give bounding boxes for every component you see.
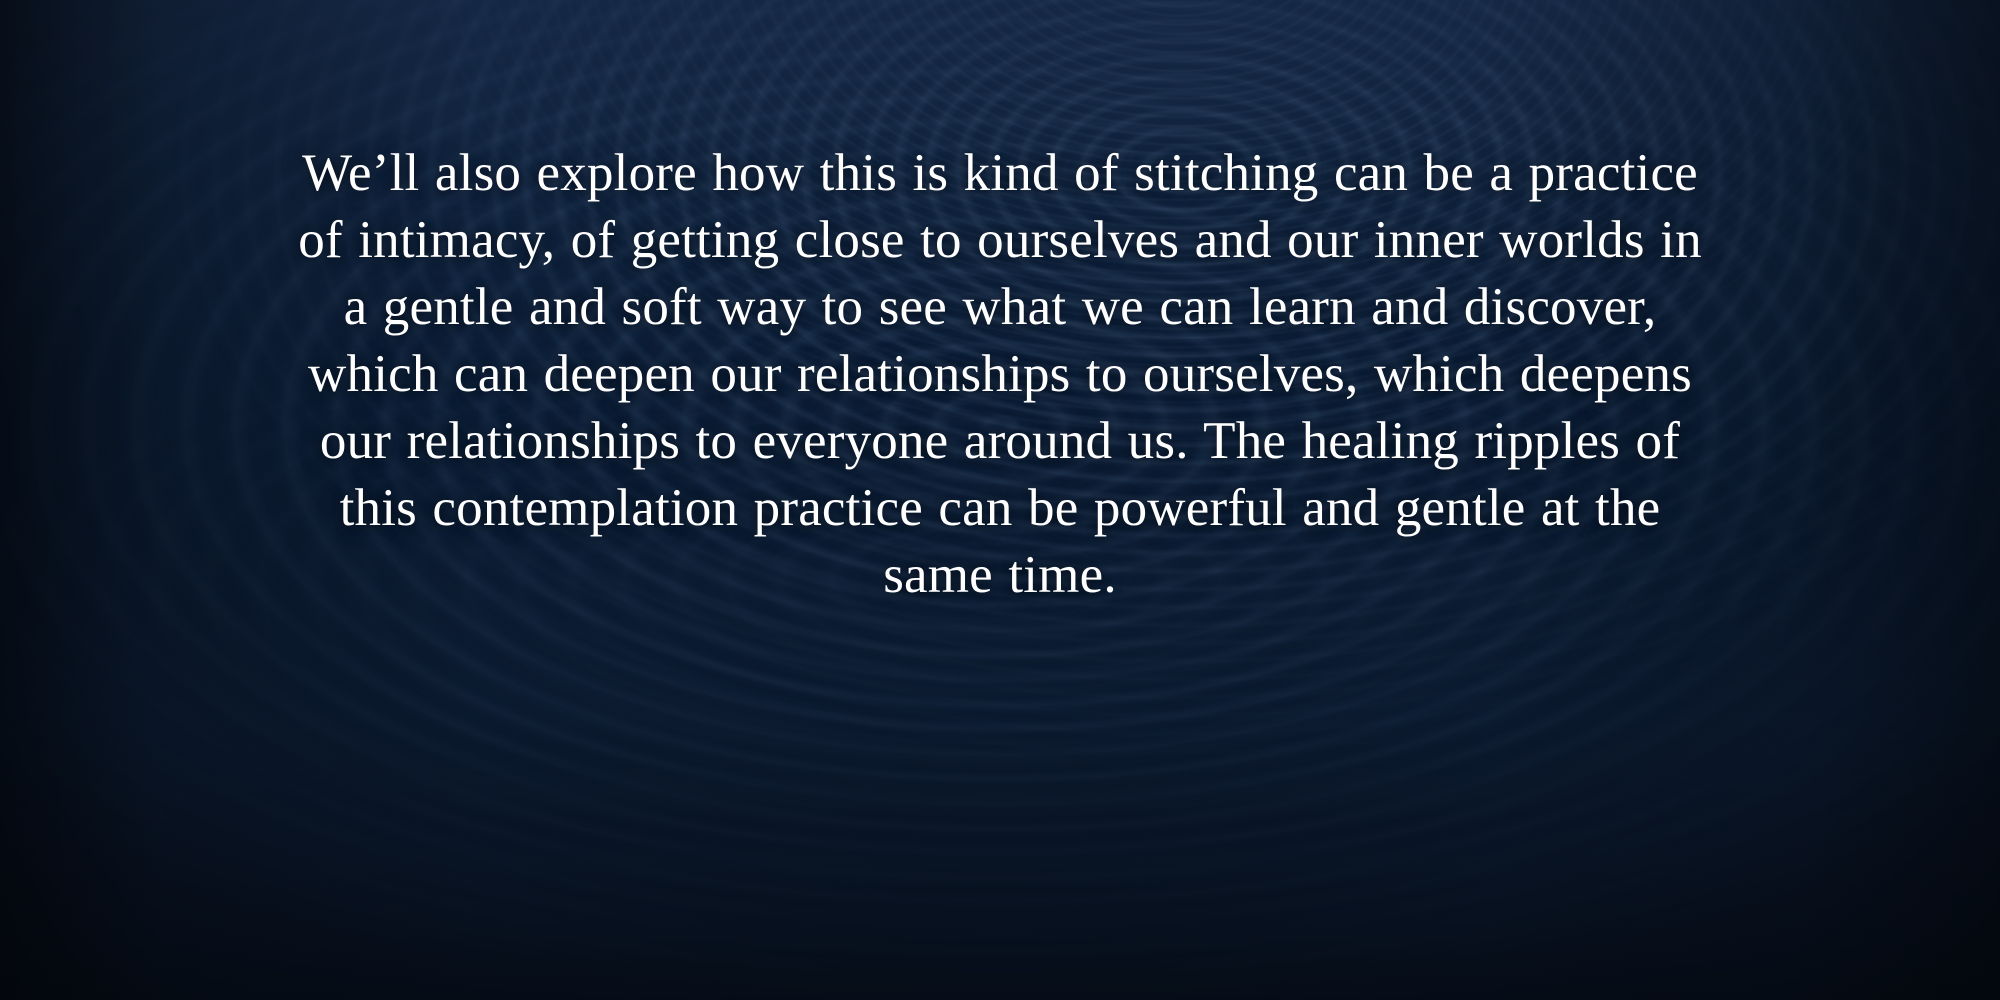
- quote-line: same time.: [88, 542, 1912, 609]
- quote-line: this contemplation practice can be power…: [88, 475, 1912, 542]
- quote-line: which can deepen our relationships to ou…: [88, 341, 1912, 408]
- quote-slide: We’ll also explore how this is kind of s…: [0, 0, 2000, 1000]
- quote-line: We’ll also explore how this is kind of s…: [88, 140, 1912, 207]
- quote-line: of intimacy, of getting close to ourselv…: [88, 207, 1912, 274]
- quote-line: our relationships to everyone around us.…: [88, 408, 1912, 475]
- quote-text-block: We’ll also explore how this is kind of s…: [88, 140, 1912, 609]
- quote-line: a gentle and soft way to see what we can…: [88, 274, 1912, 341]
